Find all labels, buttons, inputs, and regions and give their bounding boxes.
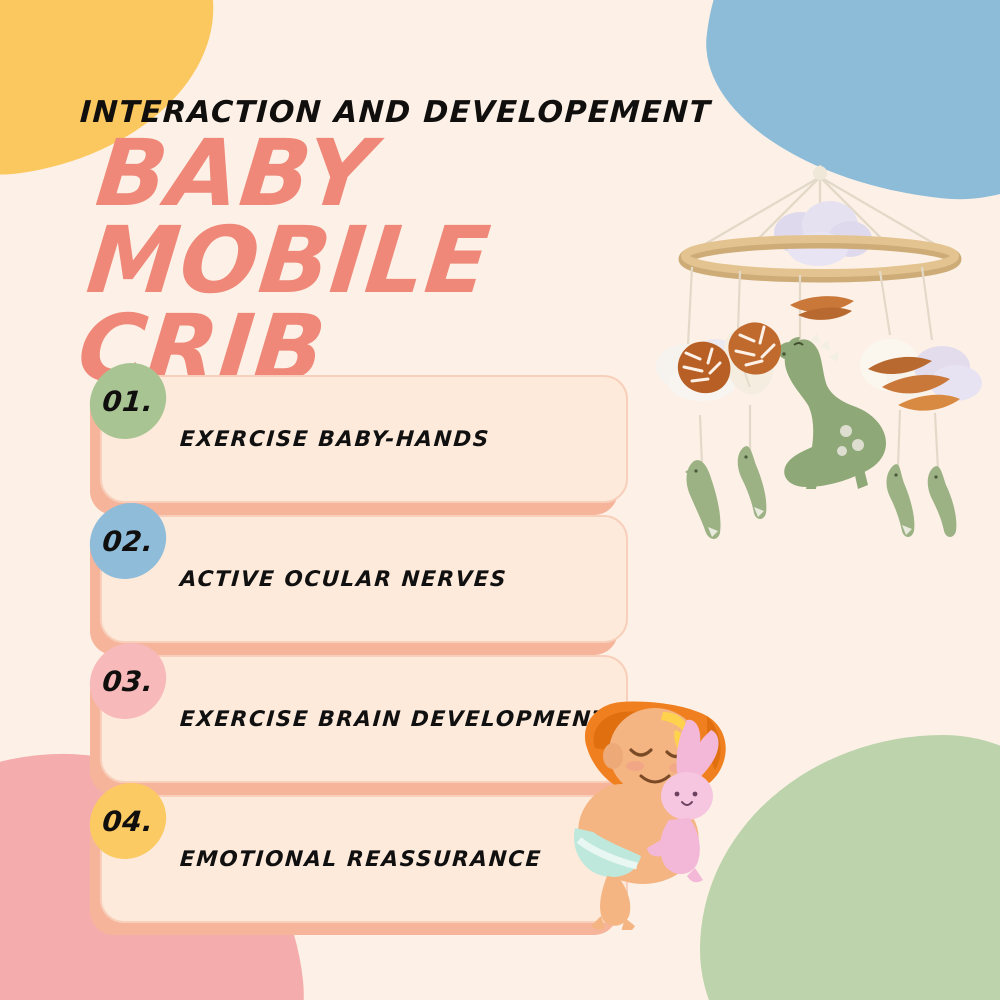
list-item-label: EXERCISE BABY-HANDS: [179, 427, 491, 452]
baby-mobile-illustration: [650, 155, 990, 595]
card-surface[interactable]: ACTIVE OCULAR NERVES: [100, 515, 628, 643]
crocodile-green-right-a: [887, 464, 915, 537]
list-item-label: ACTIVE OCULAR NERVES: [179, 567, 508, 592]
list-item-label: EMOTIONAL REASSURANCE: [179, 847, 543, 872]
cloud-lavender-top: [774, 201, 872, 266]
crocodile-green-mid: [738, 446, 767, 519]
card-surface[interactable]: EXERCISE BABY-HANDS: [100, 375, 628, 503]
sleeping-baby-illustration: [535, 690, 785, 930]
crocodile-green-left: [685, 460, 721, 539]
mobile-top-knot: [813, 166, 827, 180]
crocodile-green-right-b: [928, 466, 957, 537]
poster-canvas: INTERACTION AND DEVELOPEMENT BABY MOBILE…: [0, 0, 1000, 1000]
